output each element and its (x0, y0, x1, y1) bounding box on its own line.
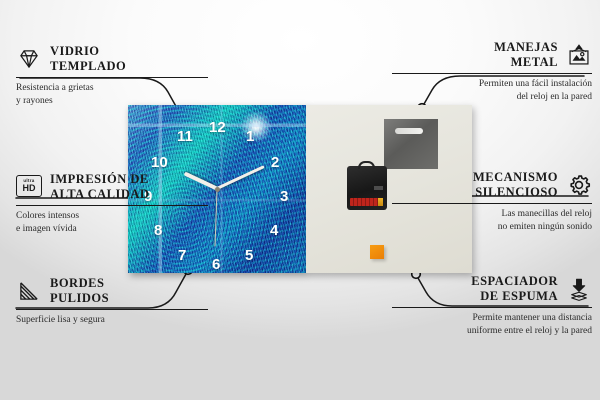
feature-mecanismo-title: MECANISMO SILENCIOSO (473, 170, 558, 200)
quartz-movement (347, 166, 387, 210)
movement-chip (374, 186, 383, 190)
feature-mecanismo-head: MECANISMO SILENCIOSO (392, 170, 592, 200)
ultra-hd-box: ultra HD (16, 175, 42, 197)
feature-bordes-head: BORDES PULIDOS (16, 276, 208, 306)
clock-number-1: 1 (246, 129, 254, 144)
feature-impresion-title-l2: ALTA CALIDAD (50, 187, 149, 202)
polished-edges-icon (16, 279, 42, 303)
clock-number-3: 3 (280, 189, 288, 204)
hanger-slot (395, 128, 423, 134)
feature-vidrio-desc: Resistencia a grietas y rayones (16, 82, 208, 108)
feature-mecanismo-title-l2: SILENCIOSO (473, 185, 558, 200)
feature-vidrio-desc-l1: Resistencia a grietas (16, 82, 208, 95)
feature-impresion-title: IMPRESIÓN DE ALTA CALIDAD (50, 172, 149, 202)
infographic-stage: 12 1 2 3 4 5 6 7 8 9 10 11 (0, 0, 600, 400)
clock-number-11: 11 (177, 129, 193, 144)
feature-vidrio-title-l2: TEMPLADO (50, 59, 126, 74)
feature-espaciador-title-l1: ESPACIADOR (471, 274, 558, 289)
feature-impresion-rule (16, 205, 208, 207)
feature-espaciador-desc-l2: uniforme entre el reloj y la pared (392, 325, 592, 338)
feature-mecanismo-rule (392, 203, 592, 205)
feature-manejas-rule (392, 73, 592, 75)
foam-spacer-arrow-icon (566, 277, 592, 301)
feature-espaciador-rule (392, 307, 592, 309)
feature-mecanismo-desc: Las manecillas del reloj no emiten ningú… (392, 208, 592, 234)
ultra-hd-bottom-text: HD (23, 184, 36, 193)
feature-vidrio-desc-l2: y rayones (16, 95, 208, 108)
feature-impresion-head: ultra HD IMPRESIÓN DE ALTA CALIDAD (16, 172, 208, 202)
feature-bordes-desc-l1: Superficie lisa y segura (16, 314, 208, 327)
feature-bordes-desc: Superficie lisa y segura (16, 314, 208, 327)
feature-manejas-metal: MANEJAS METAL Permiten una fácil instala… (392, 40, 592, 104)
feature-bordes-pulidos: BORDES PULIDOS Superficie lisa y segura (16, 276, 208, 327)
feature-bordes-title-l1: BORDES (50, 276, 109, 291)
clock-number-4: 4 (270, 223, 278, 238)
feature-impresion-desc-l2: e imagen vívida (16, 223, 208, 236)
feature-espaciador-de-espuma: ESPACIADOR DE ESPUMA Permite mantener un… (392, 274, 592, 338)
feature-espaciador-title-l2: DE ESPUMA (471, 289, 558, 304)
feature-manejas-title: MANEJAS METAL (494, 40, 558, 70)
movement-battery (350, 198, 382, 206)
feature-manejas-head: MANEJAS METAL (392, 40, 592, 70)
feature-bordes-title-l2: PULIDOS (50, 291, 109, 306)
wall-picture-icon (566, 43, 592, 67)
clock-center-cap (215, 187, 220, 192)
feature-vidrio-title-l1: VIDRIO (50, 44, 126, 59)
movement-bail (358, 161, 375, 169)
feature-mecanismo-silencioso: MECANISMO SILENCIOSO Las manecillas del … (392, 170, 592, 234)
feature-vidrio-rule (16, 77, 208, 79)
feature-espaciador-desc-l1: Permite mantener una distancia (392, 312, 592, 325)
feature-mecanismo-desc-l2: no emiten ningún sonido (392, 221, 592, 234)
feature-manejas-title-l2: METAL (494, 55, 558, 70)
feature-vidrio-title: VIDRIO TEMPLADO (50, 44, 126, 74)
ultra-hd-icon: ultra HD (16, 175, 42, 199)
feature-espaciador-head: ESPACIADOR DE ESPUMA (392, 274, 592, 304)
clock-number-5: 5 (245, 248, 253, 263)
gear-icon (566, 173, 592, 197)
feature-impresion-desc: Colores intensos e imagen vívida (16, 210, 208, 236)
feature-impresion-title-l1: IMPRESIÓN DE (50, 172, 149, 187)
feature-espaciador-title: ESPACIADOR DE ESPUMA (471, 274, 558, 304)
diamond-icon (16, 47, 42, 71)
foam-spacer (370, 245, 384, 259)
feature-bordes-title: BORDES PULIDOS (50, 276, 109, 306)
feature-mecanismo-desc-l1: Las manecillas del reloj (392, 208, 592, 221)
feature-vidrio-templado: VIDRIO TEMPLADO Resistencia a grietas y … (16, 44, 208, 108)
feature-impresion-desc-l1: Colores intensos (16, 210, 208, 223)
clock-number-12: 12 (209, 120, 226, 135)
feature-espaciador-desc: Permite mantener una distancia uniforme … (392, 312, 592, 338)
clock-number-10: 10 (151, 155, 168, 170)
feature-manejas-desc-l2: del reloj en la pared (392, 91, 592, 104)
metal-hanger-plate (384, 119, 438, 169)
feature-manejas-desc-l1: Permiten una fácil instalación (392, 78, 592, 91)
feature-manejas-desc: Permiten una fácil instalación del reloj… (392, 78, 592, 104)
feature-manejas-title-l1: MANEJAS (494, 40, 558, 55)
clock-number-7: 7 (178, 248, 186, 263)
clock-number-2: 2 (271, 155, 279, 170)
feature-impresion-alta-calidad: ultra HD IMPRESIÓN DE ALTA CALIDAD Color… (16, 172, 208, 236)
feature-bordes-rule (16, 309, 208, 311)
clock-number-6: 6 (212, 257, 220, 272)
feature-vidrio-head: VIDRIO TEMPLADO (16, 44, 208, 74)
feature-mecanismo-title-l1: MECANISMO (473, 170, 558, 185)
